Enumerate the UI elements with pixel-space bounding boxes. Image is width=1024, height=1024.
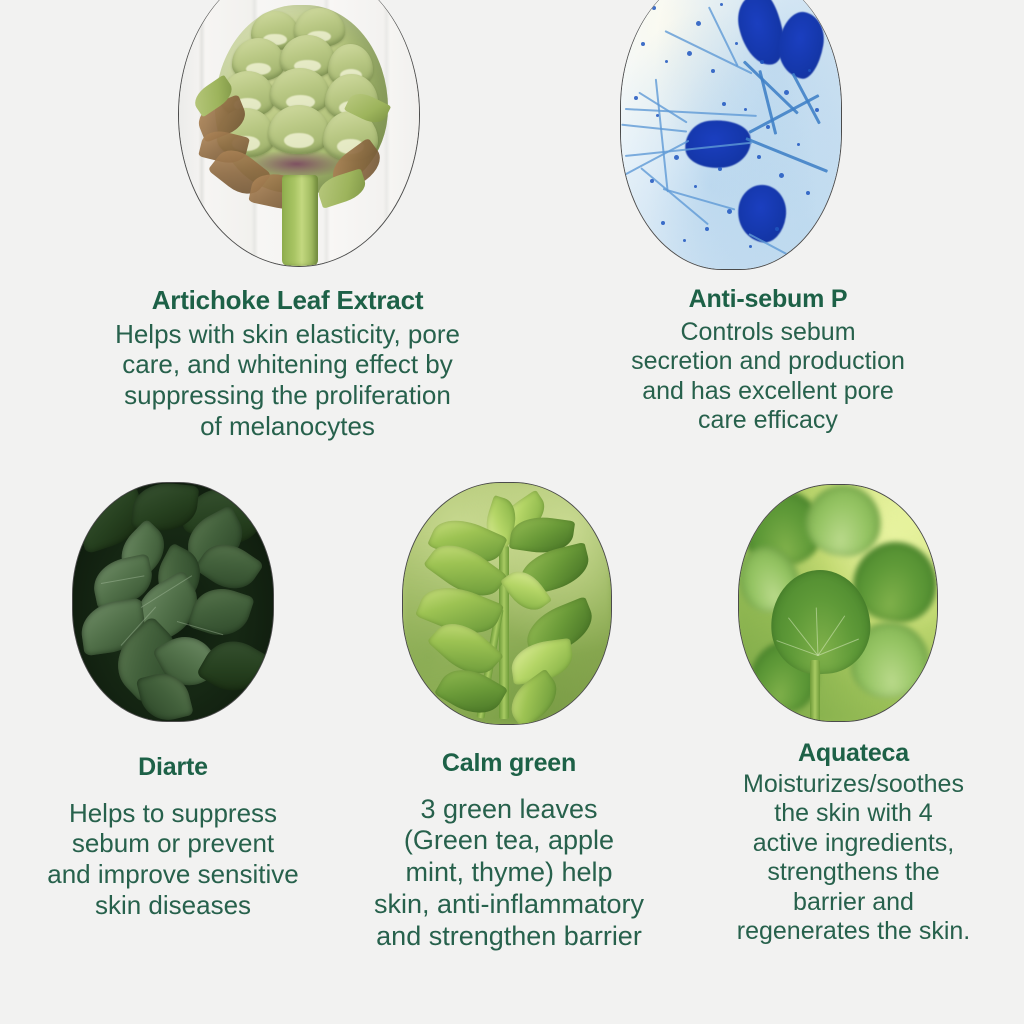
card-title-calm-green: Calm green xyxy=(333,750,685,778)
card-title-aquateca: Aquateca xyxy=(683,740,1024,768)
green-tea-photo xyxy=(402,482,612,725)
mugwort-photo xyxy=(72,482,274,722)
card-title-anti-sebum-p: Anti-sebum P xyxy=(538,286,998,314)
centella-photo xyxy=(738,484,938,722)
card-body-diarte: Helps to suppress sebum or prevent and i… xyxy=(0,798,346,921)
artichoke-stem xyxy=(282,175,318,266)
card-body-aquateca: Moisturizes/soothes the skin with 4 acti… xyxy=(683,770,1024,947)
infographic-board: Artichoke Leaf Extract Helps with skin e… xyxy=(0,0,1024,1024)
card-aquateca: Aquateca Moisturizes/soothes the skin wi… xyxy=(683,740,1024,947)
card-anti-sebum-p: Anti-sebum P Controls sebum secretion an… xyxy=(538,286,998,436)
micrograph-photo xyxy=(620,0,842,270)
card-body-anti-sebum-p: Controls sebum secretion and production … xyxy=(538,318,998,436)
card-body-artichoke: Helps with skin elasticity, pore care, a… xyxy=(35,319,540,442)
card-artichoke: Artichoke Leaf Extract Helps with skin e… xyxy=(35,286,540,441)
card-title-artichoke: Artichoke Leaf Extract xyxy=(35,286,540,315)
card-calm-green: Calm green 3 green leaves (Green tea, ap… xyxy=(333,750,685,953)
artichoke-photo xyxy=(178,0,420,267)
card-diarte: Diarte Helps to suppress sebum or preven… xyxy=(0,754,346,920)
card-body-calm-green: 3 green leaves (Green tea, apple mint, t… xyxy=(333,794,685,953)
card-title-diarte: Diarte xyxy=(0,754,346,782)
